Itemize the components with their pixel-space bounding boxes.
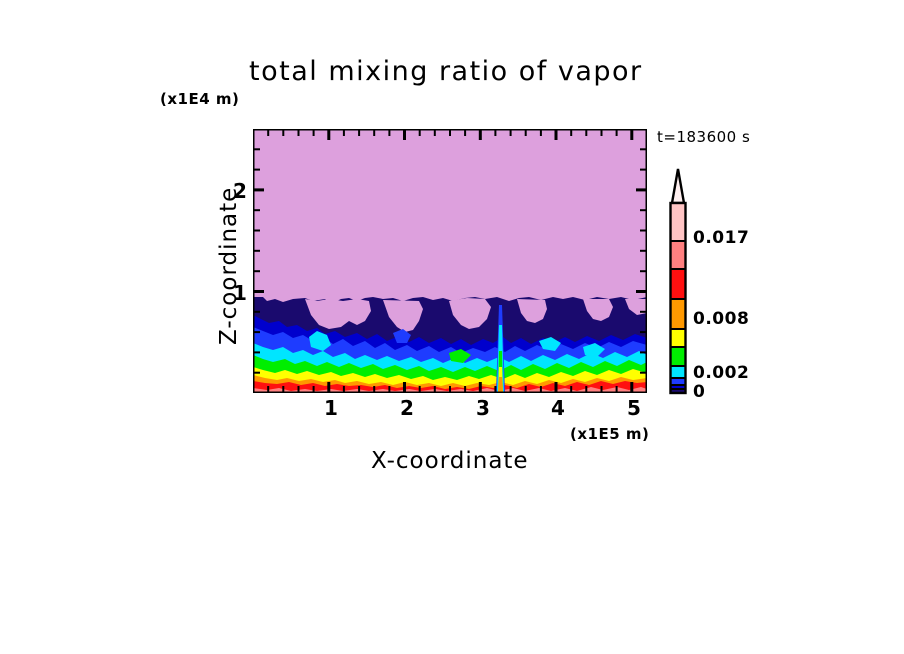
y-axis-name: Z-coordinate bbox=[218, 187, 241, 345]
colorbar-label-0008: 0.008 bbox=[693, 311, 749, 328]
timestamp-label: t=183600 s bbox=[657, 130, 750, 145]
chart-title: total mixing ratio of vapor bbox=[249, 58, 643, 85]
colorbar-label-0017: 0.017 bbox=[693, 230, 749, 247]
x-tick-label-2: 2 bbox=[400, 398, 414, 418]
x-tick-label-5: 5 bbox=[627, 398, 641, 418]
colorbar[interactable] bbox=[658, 163, 704, 395]
x-tick-label-1: 1 bbox=[324, 398, 338, 418]
colorbar-label-0: 0 bbox=[693, 384, 705, 401]
colorbar-arrow bbox=[672, 169, 684, 203]
x-tick-label-3: 3 bbox=[476, 398, 490, 418]
contour-plot[interactable] bbox=[253, 129, 647, 393]
colorbar-label-0002: 0.002 bbox=[693, 365, 749, 382]
x-tick-label-4: 4 bbox=[551, 398, 565, 418]
x-axis-name: X-coordinate bbox=[371, 450, 529, 473]
y-axis-unit-label: (x1E4 m) bbox=[160, 92, 239, 107]
x-axis-unit-label: (x1E5 m) bbox=[570, 427, 649, 442]
